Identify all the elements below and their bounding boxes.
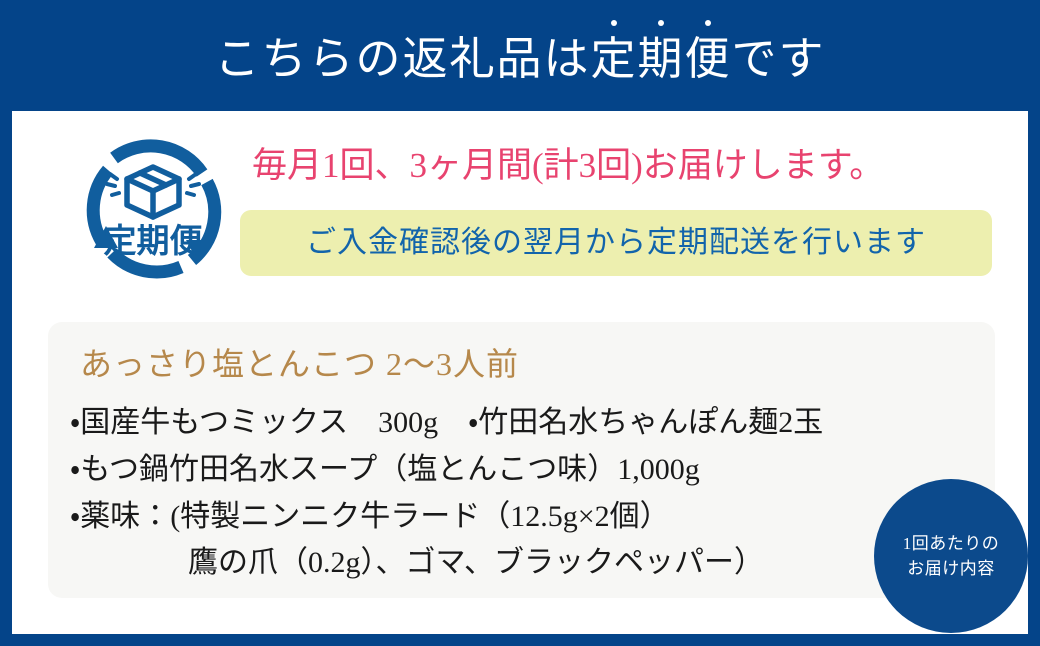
emphasis-char-2: 期 [637, 37, 684, 82]
page-title-tail: です [732, 34, 826, 84]
page-title: こちらの返礼品は定期便です [214, 29, 825, 82]
delivery-info-section: 定期便 毎月1回、3ヶ月間(計3回)お届けします。 ご入金確認後の翌月から定期配… [12, 111, 1028, 306]
list-item: ・国産牛もつミックス 300g ・竹田名水ちゃんぽん麺2玉 [70, 400, 975, 447]
header-title-container: こちらの返礼品は定期便です [0, 0, 1040, 111]
subscription-badge-label: 定期便 [104, 222, 204, 259]
list-item: ・薬味：(特製ニンニク牛ラード（12.5g×2個） [70, 494, 975, 541]
page-title-plain: こちらの返礼品は [214, 34, 590, 84]
per-delivery-badge-line1: 1回あたりの [903, 531, 1000, 557]
product-contents-card: あっさり塩とんこつ 2〜3人前 ・国産牛もつミックス 300g ・竹田名水ちゃん… [48, 322, 995, 598]
page-title-emphasis: 定期便 [590, 37, 731, 82]
subscription-badge: 定期便 [74, 130, 232, 288]
per-delivery-badge: 1回あたりの お届け内容 [874, 479, 1028, 633]
delivery-frequency-text: 毎月1回、3ヶ月間(計3回)お届けします。 [252, 147, 884, 186]
emphasis-char-3: 便 [685, 37, 732, 82]
delivery-note-banner: ご入金確認後の翌月から定期配送を行います [240, 210, 992, 276]
product-contents-list: ・国産牛もつミックス 300g ・竹田名水ちゃんぽん麺2玉 ・もつ鍋竹田名水スー… [70, 400, 975, 587]
frame-border-left [0, 0, 12, 646]
list-item: 鷹の爪（0.2g）、ゴマ、ブラックペッパー） [70, 540, 975, 587]
product-title: あっさり塩とんこつ 2〜3人前 [80, 348, 519, 380]
subscription-cycle-box-icon: 定期便 [74, 130, 232, 288]
delivery-note-text: ご入金確認後の翌月から定期配送を行います [306, 228, 926, 258]
emphasis-char-1: 定 [590, 37, 637, 82]
list-item: ・もつ鍋竹田名水スープ（塩とんこつ味）1,000g [70, 447, 975, 494]
subscription-info-page: こちらの返礼品は定期便です [0, 0, 1040, 646]
frame-border-bottom [0, 634, 1040, 646]
per-delivery-badge-line2: お届け内容 [907, 556, 995, 582]
frame-border-right [1028, 0, 1040, 646]
